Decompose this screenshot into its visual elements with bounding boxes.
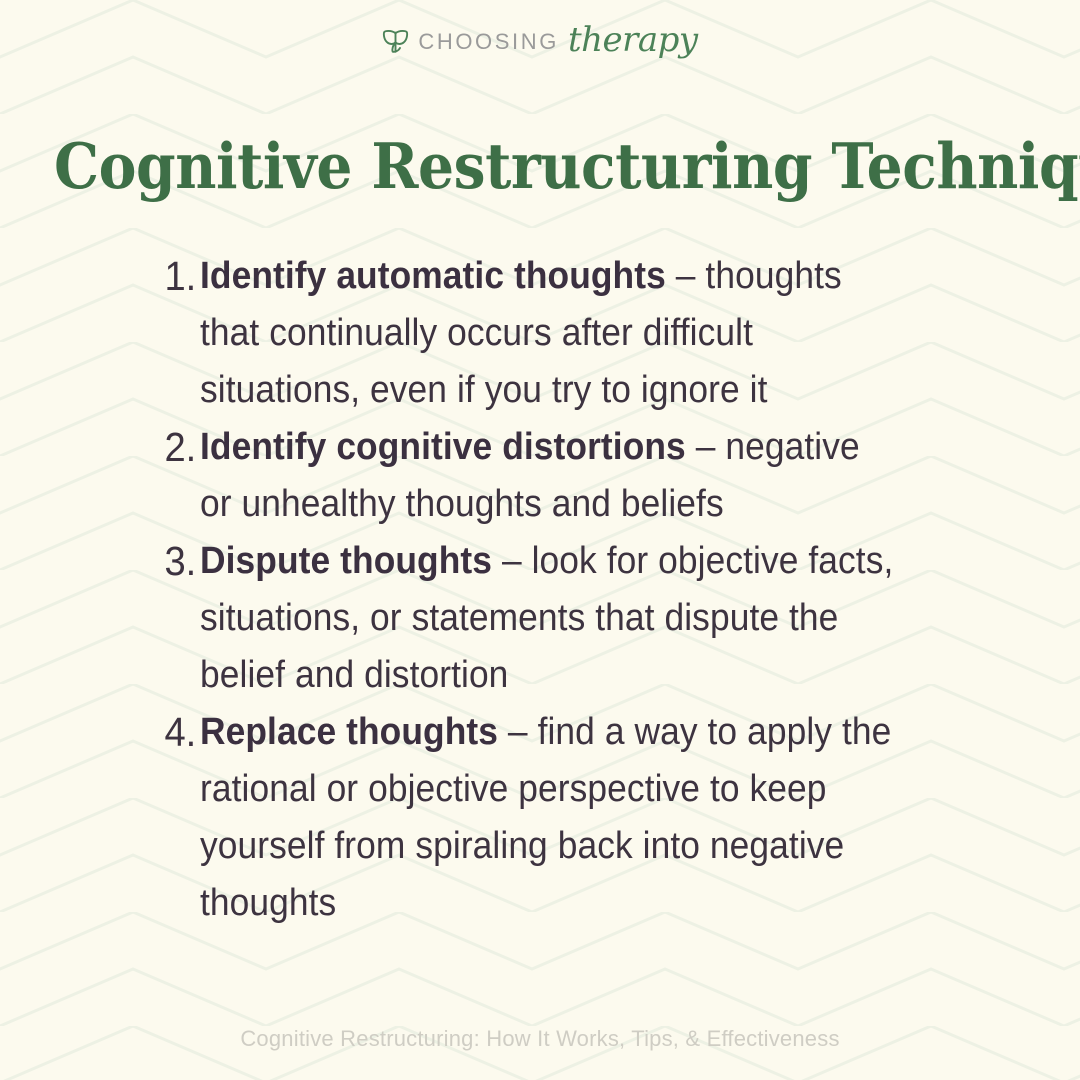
list-item: 4. Replace thoughts – find a way to appl… (134, 704, 946, 932)
list-item-lead: Replace thoughts (200, 711, 498, 753)
list-marker: 2. (139, 419, 200, 476)
list-marker: 4. (139, 704, 200, 761)
list-item-text: Identify cognitive distortions – negativ… (200, 419, 894, 533)
list-item-lead: Dispute thoughts (200, 540, 492, 582)
techniques-list: 1. Identify automatic thoughts – thought… (134, 248, 946, 932)
list-item: 3. Dispute thoughts – look for objective… (134, 533, 946, 704)
list-item-text: Dispute thoughts – look for objective fa… (200, 533, 894, 704)
leaf-plant-icon (382, 28, 409, 55)
list-item-text: Replace thoughts – find a way to apply t… (200, 704, 894, 932)
list-marker: 3. (139, 533, 200, 590)
list-marker: 1. (139, 248, 200, 305)
page-title: Cognitive Restructuring Techniques (54, 133, 1026, 199)
infographic-card: Choosing therapy Cognitive Restructuring… (0, 0, 1080, 1080)
brand-logo: Choosing therapy (0, 18, 1080, 64)
list-item-lead: Identify cognitive distortions (200, 426, 686, 468)
list-item-text: Identify automatic thoughts – thoughts t… (200, 248, 894, 419)
list-item-lead: Identify automatic thoughts (200, 255, 666, 297)
brand-name-therapy: therapy (568, 23, 698, 57)
footer-caption: Cognitive Restructuring: How It Works, T… (0, 1026, 1080, 1052)
list-item: 1. Identify automatic thoughts – thought… (134, 248, 946, 419)
list-item: 2. Identify cognitive distortions – nega… (134, 419, 946, 533)
brand-name-choosing: Choosing (418, 31, 559, 53)
